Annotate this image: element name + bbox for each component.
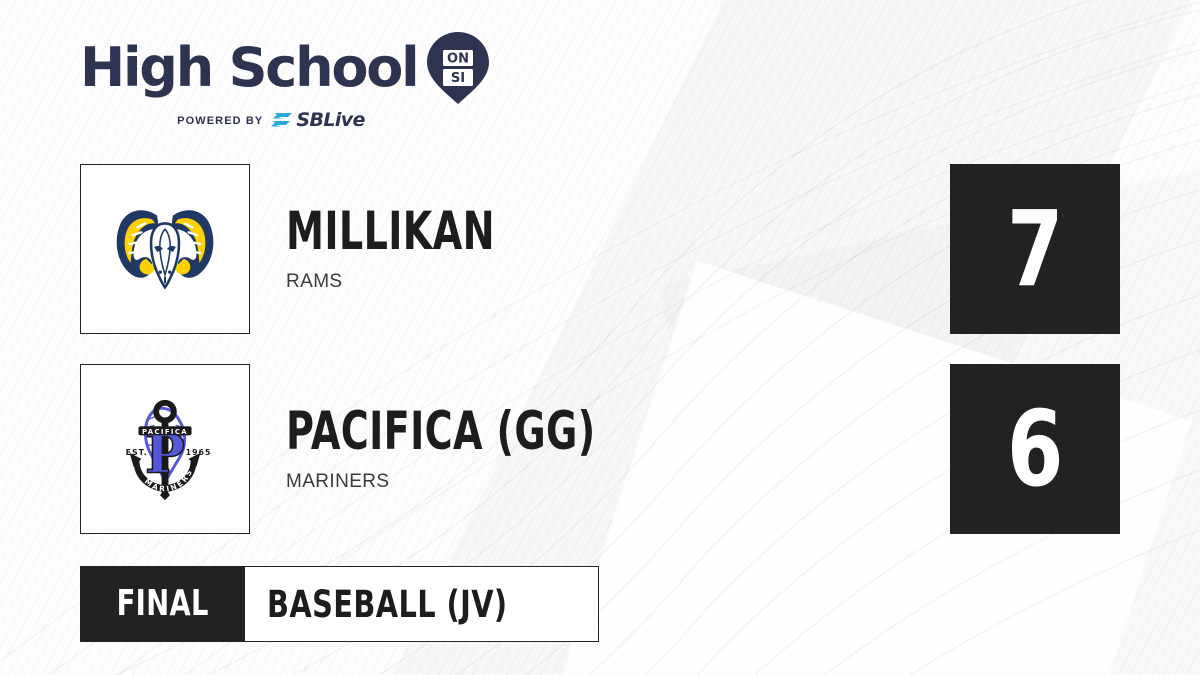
team-logo-box <box>80 164 250 334</box>
team-score: 6 <box>1007 397 1063 501</box>
team-name: PACIFICA (GG) <box>286 405 764 458</box>
brand-wordmark: High School <box>80 41 417 95</box>
team-mascot: MARINERS <box>286 471 950 493</box>
svg-text:EST.: EST. <box>126 448 148 457</box>
team-mascot: RAMS <box>286 271 950 293</box>
sblive-wordmark: SBLive <box>296 111 364 130</box>
sblive-logo: SBLive <box>271 111 364 130</box>
team-info: MILLIKAN RAMS <box>286 205 950 293</box>
brand-header: High School ON SI POWERED BY <box>80 32 510 130</box>
svg-text:1965: 1965 <box>186 448 212 457</box>
svg-text:PACIFICA: PACIFICA <box>142 428 188 436</box>
team-name: MILLIKAN <box>286 205 764 258</box>
brand-logo-row: High School ON SI <box>80 32 510 104</box>
svg-text:SI: SI <box>451 71 465 86</box>
scorecard-graphic: High School ON SI POWERED BY <box>0 0 1200 675</box>
game-state-label: FINAL <box>117 586 209 622</box>
brand-subline: POWERED BY SBLive <box>80 111 510 130</box>
team-info: PACIFICA (GG) MARINERS <box>286 405 950 493</box>
team-logo-box: P PACIFICA EST. 1965 MARINERS <box>80 364 250 534</box>
powered-by-label: POWERED BY <box>177 115 263 127</box>
on-si-pin-icon: ON SI <box>427 32 489 104</box>
team-score: 7 <box>1007 197 1063 301</box>
game-state-badge: FINAL <box>80 566 245 642</box>
team-row: P PACIFICA EST. 1965 MARINERS PACIFICA (… <box>80 364 1120 534</box>
team-score-box: 6 <box>950 364 1120 534</box>
ram-head-icon <box>106 190 224 308</box>
sport-label: BASEBALL (JV) <box>267 586 508 623</box>
team-score-box: 7 <box>950 164 1120 334</box>
svg-text:ON: ON <box>447 52 469 67</box>
status-bar: FINAL BASEBALL (JV) <box>80 566 599 642</box>
team-row: MILLIKAN RAMS 7 <box>80 164 1120 334</box>
sport-label-box: BASEBALL (JV) <box>245 566 598 642</box>
sblive-mark-icon <box>271 112 293 129</box>
anchor-crest-icon: P PACIFICA EST. 1965 MARINERS <box>106 390 224 508</box>
